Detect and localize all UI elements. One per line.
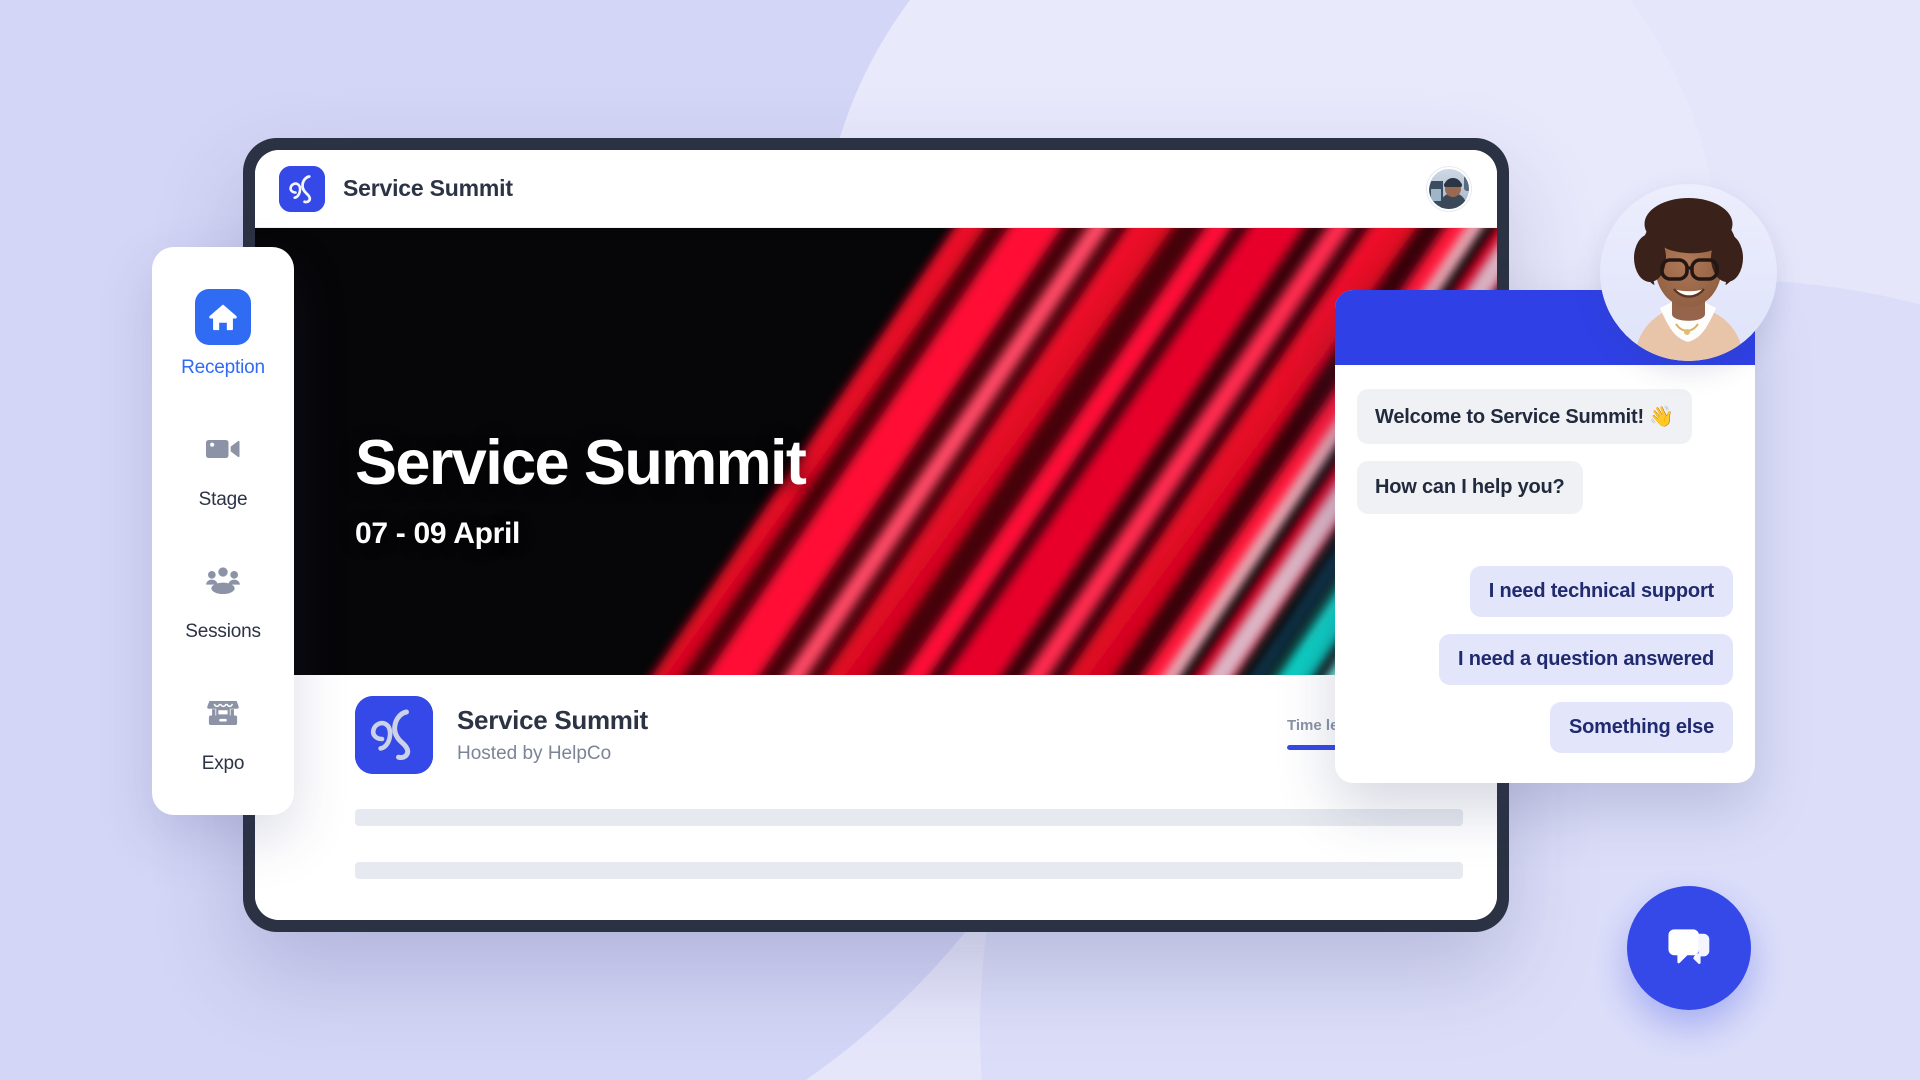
sidebar-item-stage[interactable]: Stage bbox=[152, 421, 294, 511]
market-stall-icon bbox=[195, 685, 251, 741]
sidebar-item-label: Sessions bbox=[185, 621, 261, 643]
chat-message-list: Welcome to Service Summit! 👋 How can I h… bbox=[1335, 365, 1755, 783]
chat-launcher-button[interactable] bbox=[1627, 886, 1751, 1010]
sidebar-nav: Reception Stage bbox=[152, 247, 294, 815]
chat-message-bubble: Welcome to Service Summit! 👋 bbox=[1357, 389, 1692, 444]
event-host: Hosted by HelpCo bbox=[457, 743, 648, 765]
service-summit-logo-icon bbox=[279, 166, 325, 212]
app-title: Service Summit bbox=[343, 175, 513, 202]
people-group-icon bbox=[195, 553, 251, 609]
sidebar-item-label: Expo bbox=[202, 753, 245, 775]
chat-widget-panel: Welcome to Service Summit! 👋 How can I h… bbox=[1335, 290, 1755, 783]
hero-banner: Service Summit 07 - 09 April bbox=[255, 228, 1497, 675]
hero-title: Service Summit bbox=[355, 432, 805, 495]
chat-bubbles-icon bbox=[1660, 918, 1718, 979]
sidebar-item-expo[interactable]: Expo bbox=[152, 685, 294, 775]
quick-reply-technical-support[interactable]: I need technical support bbox=[1470, 566, 1733, 617]
sidebar-item-sessions[interactable]: Sessions bbox=[152, 553, 294, 643]
app-window: Service Summit bbox=[255, 150, 1497, 920]
event-name: Service Summit bbox=[457, 705, 648, 736]
quick-reply-question-answered[interactable]: I need a question answered bbox=[1439, 634, 1733, 685]
content-skeleton-list bbox=[255, 795, 1497, 920]
home-icon bbox=[195, 289, 251, 345]
event-text-block: Service Summit Hosted by HelpCo bbox=[457, 705, 648, 765]
support-agent-photo bbox=[1600, 184, 1777, 361]
skeleton-row bbox=[355, 862, 1463, 879]
hero-copy: Service Summit 07 - 09 April bbox=[355, 432, 805, 551]
sidebar-item-label: Reception bbox=[181, 357, 265, 379]
video-camera-icon bbox=[195, 421, 251, 477]
app-header: Service Summit bbox=[255, 150, 1497, 228]
page-backdrop: Service Summit bbox=[0, 0, 1920, 1080]
device-frame: Service Summit bbox=[243, 138, 1509, 932]
user-avatar-photo[interactable] bbox=[1427, 167, 1471, 211]
quick-reply-something-else[interactable]: Something else bbox=[1550, 702, 1733, 753]
sidebar-item-reception[interactable]: Reception bbox=[152, 289, 294, 379]
chat-message-bubble: How can I help you? bbox=[1357, 461, 1583, 514]
event-info-bar: Service Summit Hosted by HelpCo Time lef… bbox=[255, 675, 1497, 795]
hero-date-range: 07 - 09 April bbox=[355, 517, 805, 551]
chat-quick-reply-group: I need technical support I need a questi… bbox=[1357, 566, 1733, 753]
event-logo-icon bbox=[355, 696, 433, 774]
skeleton-row bbox=[355, 809, 1463, 826]
sidebar-item-label: Stage bbox=[199, 489, 248, 511]
